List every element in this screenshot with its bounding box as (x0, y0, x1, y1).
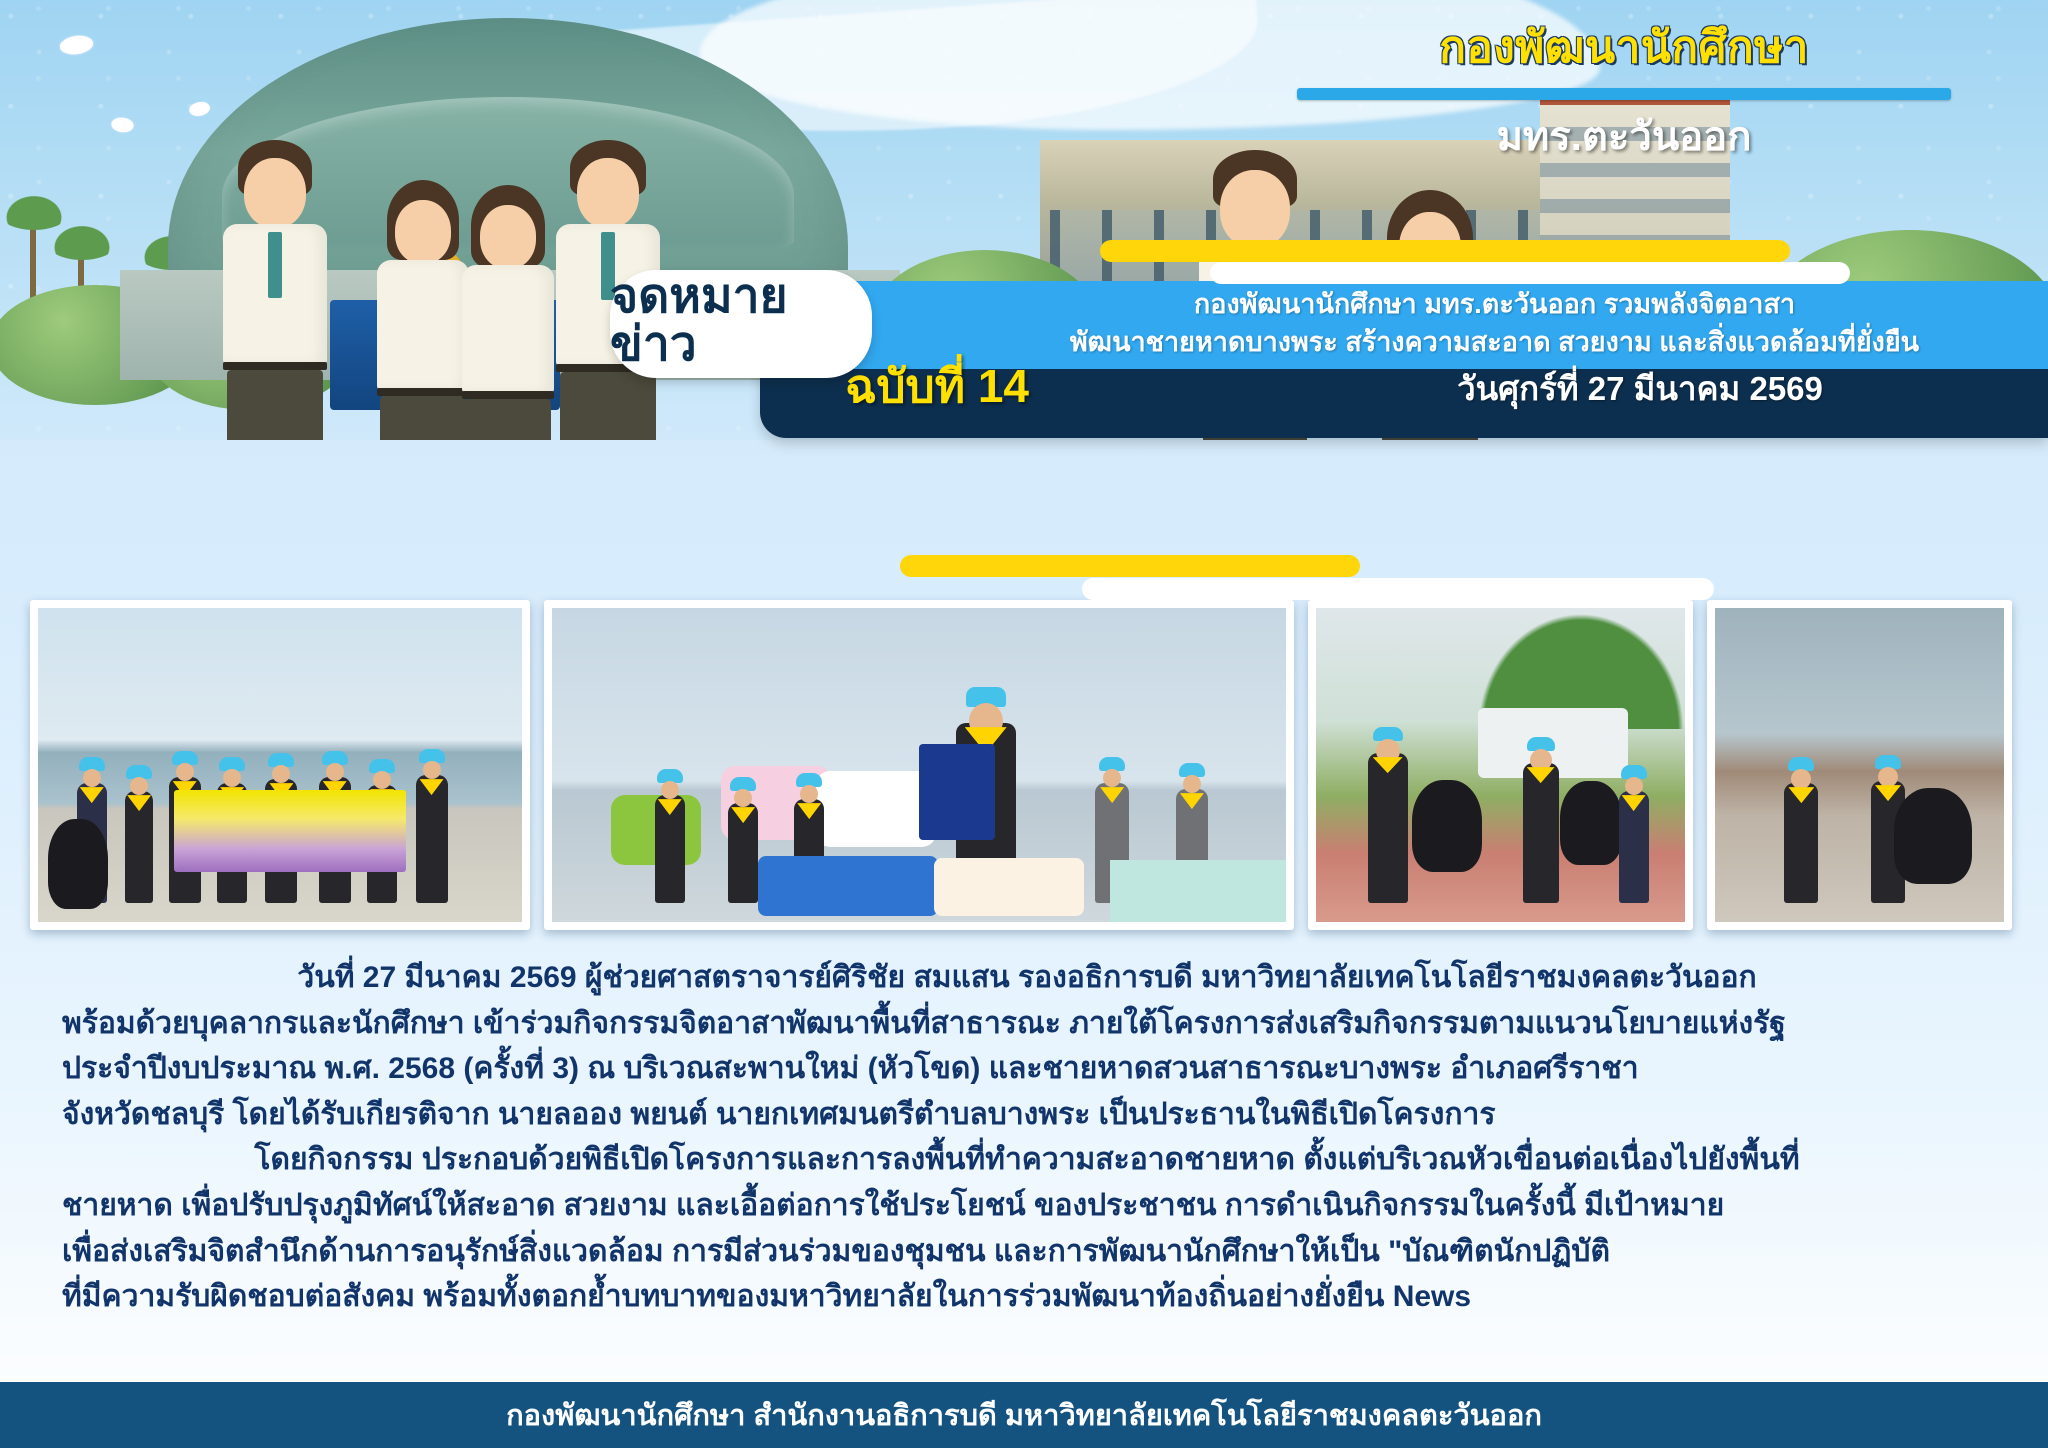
footer-text: กองพัฒนานักศึกษา สำนักงานอธิการบดี มหาวิ… (506, 1392, 1542, 1438)
title-underline-bar (1297, 88, 1951, 100)
brand-header: กองพัฒนานักศึกษา มทร.ตะวันออก (1244, 12, 2004, 168)
bird-icon: ⬬ (57, 26, 96, 65)
photo-gallery (30, 600, 2018, 930)
organization-title: กองพัฒนานักศึกษา (1244, 12, 2004, 82)
student-figure (455, 185, 560, 440)
decorative-pill-yellow (1100, 240, 1790, 262)
article-body: วันที่ 27 มีนาคม 2569 ผู้ช่วยศาสตราจารย์… (62, 955, 1992, 1320)
photo-volunteers-group (38, 608, 522, 922)
photo-beach-cleanup-walkway (1316, 608, 1685, 922)
footer-bar: กองพัฒนานักศึกษา สำนักงานอธิการบดี มหาวิ… (0, 1382, 2048, 1448)
bird-icon: ⬬ (110, 110, 136, 139)
article-line: วันที่ 27 มีนาคม 2569 ผู้ช่วยศาสตราจารย์… (62, 955, 1992, 1001)
speech-folder (919, 744, 995, 840)
royal-volunteer-banner (174, 790, 406, 872)
issue-date-label: วันศุกร์ที่ 27 มีนาคม 2569 (1290, 362, 1990, 415)
newsletter-label-badge: จดหมายข่าว (610, 270, 872, 378)
article-line: พร้อมด้วยบุคลากรและนักศึกษา เข้าร่วมกิจก… (62, 1001, 1992, 1047)
article-line: ประจำปีงบประมาณ พ.ศ. 2568 (ครั้งที่ 3) ณ… (62, 1046, 1992, 1092)
article-line: ชายหาด เพื่อปรับปรุงภูมิทัศน์ให้สะอาด สว… (62, 1183, 1992, 1229)
decorative-pill-white (1210, 262, 1850, 284)
decorative-bar-white (1082, 578, 1714, 600)
article-line: จังหวัดชลบุรี โดยได้รับเกียรติจาก นายลออ… (62, 1092, 1992, 1138)
photo-card[interactable] (1308, 600, 1693, 930)
issue-number-label: ฉบับที่ 14 (845, 350, 1029, 423)
organization-subtitle: มทร.ตะวันออก (1244, 104, 2004, 168)
headline-line-1: กองพัฒนานักศึกษา มทร.ตะวันออก รวมพลังจิต… (955, 285, 2034, 323)
photo-card[interactable] (30, 600, 530, 930)
photo-seawall-cleanup (1715, 608, 2004, 922)
article-line: เพื่อส่งเสริมจิตสำนึกด้านการอนุรักษ์สิ่ง… (62, 1229, 1992, 1275)
student-figure (215, 140, 335, 440)
photo-card[interactable] (1707, 600, 2012, 930)
article-line: ที่มีความรับผิดชอบต่อสังคม พร้อมทั้งตอกย… (62, 1274, 1992, 1320)
headline-line-2: พัฒนาชายหาดบางพระ สร้างความสะอาด สวยงาม … (955, 323, 2034, 361)
newsletter-label-text: จดหมายข่าว (610, 273, 872, 375)
decorative-bar-yellow (900, 555, 1360, 577)
article-line: โดยกิจกรรม ประกอบด้วยพิธีเปิดโครงการและก… (62, 1137, 1992, 1183)
photo-opening-ceremony (552, 608, 1286, 922)
photo-card[interactable] (544, 600, 1294, 930)
